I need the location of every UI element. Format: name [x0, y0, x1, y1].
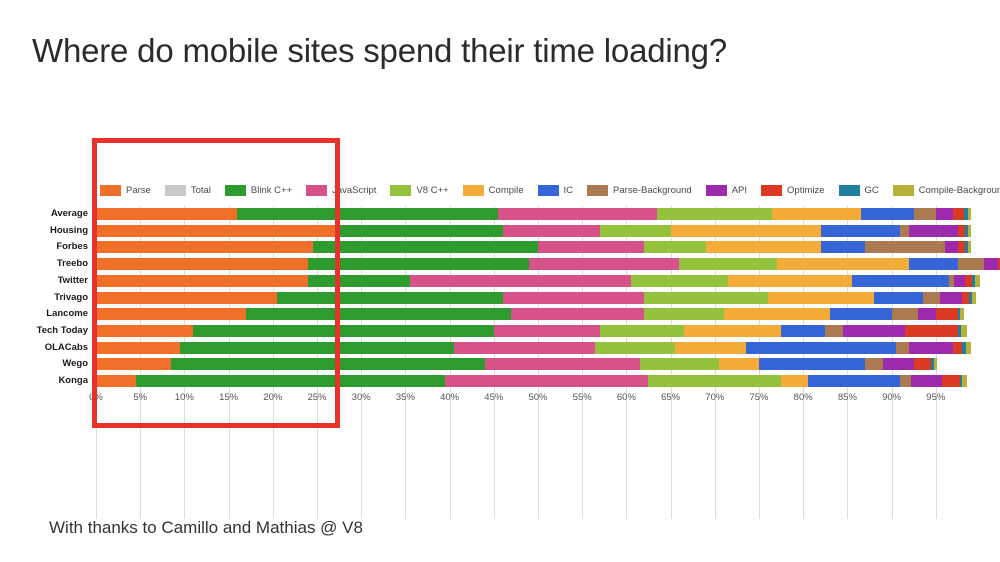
stacked-bar: [96, 308, 980, 320]
bar-row: [96, 342, 980, 354]
category-label-housing: Housing: [50, 225, 88, 237]
bar-segment-compile[interactable]: [684, 325, 781, 337]
category-label-treebo: Treebo: [57, 258, 88, 270]
legend-label: API: [732, 185, 747, 196]
legend-swatch-icon: [225, 185, 246, 196]
bar-segment-compile-background[interactable]: [962, 375, 966, 387]
legend-item-gc[interactable]: GC: [839, 185, 879, 196]
bar-segment-parse[interactable]: [96, 225, 335, 237]
legend-item-compile[interactable]: Compile: [463, 185, 524, 196]
category-label-trivago: Trivago: [54, 292, 88, 304]
legend-swatch-icon: [463, 185, 484, 196]
bar-segment-parse-background[interactable]: [914, 208, 936, 220]
legend-label: Parse: [126, 185, 151, 196]
bar-row: [96, 258, 980, 270]
stacked-bar-chart: ParseTotalBlink C++JavaScriptV8 C++Compi…: [0, 130, 1000, 420]
x-tick-label: 75%: [749, 392, 768, 403]
stacked-bar: [96, 292, 980, 304]
bar-segment-blink-c-[interactable]: [246, 308, 511, 320]
bar-segment-parse-background[interactable]: [900, 225, 909, 237]
x-tick-label: 0%: [89, 392, 103, 403]
legend-swatch-icon: [306, 185, 327, 196]
bar-segment-parse[interactable]: [96, 325, 193, 337]
bar-segment-javascript[interactable]: [503, 292, 644, 304]
stacked-bar: [96, 208, 980, 220]
bar-segment-v8-c-[interactable]: [640, 358, 720, 370]
legend-swatch-icon: [839, 185, 860, 196]
legend-swatch-icon: [706, 185, 727, 196]
stacked-bar: [96, 342, 980, 354]
bar-segment-javascript[interactable]: [410, 275, 631, 287]
bar-segment-api[interactable]: [909, 342, 953, 354]
x-tick-label: 10%: [175, 392, 194, 403]
bar-segment-v8-c-[interactable]: [644, 292, 768, 304]
category-label-tech-today: Tech Today: [37, 325, 88, 337]
bar-segment-parse[interactable]: [96, 375, 136, 387]
bar-segment-v8-c-[interactable]: [595, 342, 675, 354]
x-tick-label: 45%: [484, 392, 503, 403]
bar-segment-optimize[interactable]: [936, 308, 958, 320]
stacked-bar: [96, 358, 980, 370]
legend-item-api[interactable]: API: [706, 185, 747, 196]
bar-segment-compile-background[interactable]: [972, 292, 976, 304]
bar-segment-blink-c-[interactable]: [193, 325, 494, 337]
stacked-bar: [96, 275, 980, 287]
bar-segment-api[interactable]: [883, 358, 914, 370]
bar-segment-api[interactable]: [918, 308, 936, 320]
bar-segment-api[interactable]: [954, 275, 965, 287]
bar-segment-ic[interactable]: [808, 375, 901, 387]
legend-swatch-icon: [893, 185, 914, 196]
stacked-bar: [96, 258, 980, 270]
bar-segment-api[interactable]: [984, 258, 997, 270]
bar-segment-ic[interactable]: [746, 342, 896, 354]
stacked-bar: [96, 325, 980, 337]
plot-region: [96, 206, 980, 518]
legend-label: Compile: [489, 185, 524, 196]
bar-row: [96, 208, 980, 220]
bar-segment-blink-c-[interactable]: [313, 241, 538, 253]
bar-row: [96, 275, 980, 287]
bar-segment-v8-c-[interactable]: [648, 375, 781, 387]
legend-swatch-icon: [587, 185, 608, 196]
legend-swatch-icon: [165, 185, 186, 196]
bar-segment-blink-c-[interactable]: [308, 258, 529, 270]
x-tick-label: 60%: [617, 392, 636, 403]
bar-segment-blink-c-[interactable]: [335, 225, 503, 237]
bar-segment-parse[interactable]: [96, 241, 313, 253]
bar-segment-parse[interactable]: [96, 208, 237, 220]
legend-item-total[interactable]: Total: [165, 185, 211, 196]
x-tick-label: 55%: [573, 392, 592, 403]
bar-segment-compile[interactable]: [781, 375, 808, 387]
bar-segment-ic[interactable]: [852, 275, 949, 287]
bar-segment-parse-background[interactable]: [865, 358, 883, 370]
bar-segment-javascript[interactable]: [498, 208, 657, 220]
legend-swatch-icon: [761, 185, 782, 196]
bar-segment-blink-c-[interactable]: [136, 375, 445, 387]
legend-label: Compile-Background: [919, 185, 1000, 196]
legend-item-v8-c-[interactable]: V8 C++: [390, 185, 448, 196]
bar-segment-compile-background[interactable]: [968, 225, 972, 237]
category-label-twitter: Twitter: [58, 275, 88, 287]
bar-segment-parse-background[interactable]: [958, 258, 985, 270]
bar-segment-optimize[interactable]: [953, 342, 962, 354]
bar-segment-api[interactable]: [909, 225, 958, 237]
x-tick-label: 90%: [882, 392, 901, 403]
bar-segment-ic[interactable]: [821, 241, 865, 253]
bar-segment-v8-c-[interactable]: [644, 241, 706, 253]
bar-segment-api[interactable]: [936, 208, 954, 220]
bar-segment-v8-c-[interactable]: [600, 225, 671, 237]
x-tick-label: 85%: [838, 392, 857, 403]
bar-segment-optimize[interactable]: [958, 225, 965, 237]
stacked-bar: [96, 241, 980, 253]
bar-segment-blink-c-[interactable]: [180, 342, 454, 354]
bar-segment-javascript[interactable]: [494, 325, 600, 337]
bar-segment-compile[interactable]: [777, 258, 910, 270]
bar-segment-ic[interactable]: [861, 208, 914, 220]
legend-item-parse[interactable]: Parse: [100, 185, 151, 196]
bar-segment-optimize[interactable]: [958, 241, 965, 253]
bar-segment-ic[interactable]: [821, 225, 901, 237]
x-tick-label: 40%: [440, 392, 459, 403]
bar-segment-compile-background[interactable]: [966, 342, 971, 354]
legend-item-optimize[interactable]: Optimize: [761, 185, 824, 196]
bar-segment-api[interactable]: [940, 292, 962, 304]
x-tick-label: 50%: [528, 392, 547, 403]
bar-segment-compile[interactable]: [768, 292, 874, 304]
legend-label: JavaScript: [332, 185, 376, 196]
bar-segment-v8-c-[interactable]: [657, 208, 772, 220]
bar-segment-optimize[interactable]: [942, 375, 960, 387]
bar-segment-compile[interactable]: [671, 225, 821, 237]
bar-segment-ic[interactable]: [781, 325, 825, 337]
legend-swatch-icon: [100, 185, 121, 196]
legend-swatch-icon: [390, 185, 411, 196]
bar-segment-parse-background[interactable]: [892, 308, 919, 320]
bar-segment-parse-background[interactable]: [923, 292, 941, 304]
bar-segment-ic[interactable]: [909, 258, 958, 270]
stacked-bar: [96, 225, 980, 237]
category-label-forbes: Forbes: [56, 241, 88, 253]
bar-segment-parse[interactable]: [96, 292, 277, 304]
bar-segment-javascript[interactable]: [503, 225, 600, 237]
x-tick-label: 20%: [263, 392, 282, 403]
bar-segment-javascript[interactable]: [538, 241, 644, 253]
bar-segment-parse[interactable]: [96, 342, 180, 354]
bar-row: [96, 241, 980, 253]
bar-segment-blink-c-[interactable]: [237, 208, 498, 220]
bar-segment-compile-background[interactable]: [968, 241, 972, 253]
stacked-bar: [96, 375, 980, 387]
bar-segment-javascript[interactable]: [529, 258, 679, 270]
x-tick-label: 5%: [133, 392, 147, 403]
x-tick-label: 25%: [307, 392, 326, 403]
legend-label: Total: [191, 185, 211, 196]
bar-segment-ic[interactable]: [759, 358, 865, 370]
x-tick-label: 35%: [396, 392, 415, 403]
bar-segment-compile-background[interactable]: [968, 208, 972, 220]
bar-segment-api[interactable]: [843, 325, 905, 337]
bar-segment-v8-c-[interactable]: [600, 325, 684, 337]
x-axis-tick-labels: 0%5%10%15%20%25%30%35%40%45%50%55%60%65%…: [96, 392, 980, 408]
bar-segment-parse-background[interactable]: [900, 375, 911, 387]
category-label-lancome: Lancome: [46, 308, 88, 320]
bar-segment-compile-background[interactable]: [934, 358, 938, 370]
bar-segment-optimize[interactable]: [965, 275, 972, 287]
bar-segment-v8-c-[interactable]: [644, 308, 724, 320]
category-label-average: Average: [51, 208, 88, 220]
bar-segment-ic[interactable]: [874, 292, 923, 304]
page-title: Where do mobile sites spend their time l…: [32, 32, 727, 70]
category-axis-labels: AverageHousingForbesTreeboTwitterTrivago…: [0, 206, 96, 406]
x-tick-label: 30%: [352, 392, 371, 403]
bar-segment-compile[interactable]: [724, 308, 830, 320]
bar-segment-optimize[interactable]: [953, 208, 964, 220]
bar-row: [96, 375, 980, 387]
bar-segment-javascript[interactable]: [445, 375, 648, 387]
bar-segment-compile-background[interactable]: [975, 275, 980, 287]
bar-segment-blink-c-[interactable]: [308, 275, 410, 287]
legend-item-parse-background[interactable]: Parse-Background: [587, 185, 692, 196]
bar-segment-optimize[interactable]: [914, 358, 932, 370]
bar-segment-javascript[interactable]: [511, 308, 644, 320]
legend-item-javascript[interactable]: JavaScript: [306, 185, 376, 196]
bar-segment-compile-background[interactable]: [960, 308, 964, 320]
x-tick-label: 65%: [661, 392, 680, 403]
bar-segment-blink-c-[interactable]: [277, 292, 502, 304]
footer-credit: With thanks to Camillo and Mathias @ V8: [49, 518, 363, 538]
bar-row: [96, 225, 980, 237]
category-label-wego: Wego: [62, 358, 88, 370]
x-tick-label: 80%: [794, 392, 813, 403]
bar-row: [96, 325, 980, 337]
bar-segment-parse-background[interactable]: [825, 325, 843, 337]
legend-label: IC: [564, 185, 574, 196]
bar-segment-v8-c-[interactable]: [679, 258, 776, 270]
bar-row: [96, 292, 980, 304]
x-tick-label: 15%: [219, 392, 238, 403]
bar-segment-parse-background[interactable]: [865, 241, 945, 253]
bar-segment-parse[interactable]: [96, 308, 246, 320]
bar-segment-parse[interactable]: [96, 358, 171, 370]
bar-segment-compile[interactable]: [706, 241, 821, 253]
bar-segment-ic[interactable]: [830, 308, 892, 320]
bar-segment-compile[interactable]: [719, 358, 759, 370]
legend-label: Parse-Background: [613, 185, 692, 196]
bar-segment-blink-c-[interactable]: [171, 358, 485, 370]
legend-item-ic[interactable]: IC: [538, 185, 574, 196]
bar-segment-compile[interactable]: [728, 275, 852, 287]
legend-label: Blink C++: [251, 185, 292, 196]
bar-segment-compile[interactable]: [675, 342, 746, 354]
bar-segment-compile-background[interactable]: [961, 325, 966, 337]
x-tick-label: 95%: [926, 392, 945, 403]
bar-segment-compile[interactable]: [772, 208, 860, 220]
legend-swatch-icon: [538, 185, 559, 196]
legend-label: GC: [865, 185, 879, 196]
bar-segment-parse[interactable]: [96, 258, 308, 270]
chart-legend: ParseTotalBlink C++JavaScriptV8 C++Compi…: [100, 182, 1000, 198]
bar-segment-optimize[interactable]: [905, 325, 958, 337]
bar-segment-api[interactable]: [911, 375, 942, 387]
category-label-olacabs: OLACabs: [45, 342, 88, 354]
bar-segment-parse-background[interactable]: [896, 342, 909, 354]
bar-segment-v8-c-[interactable]: [631, 275, 728, 287]
bar-row: [96, 308, 980, 320]
x-tick-label: 70%: [705, 392, 724, 403]
bar-segment-api[interactable]: [945, 241, 958, 253]
legend-item-blink-c-[interactable]: Blink C++: [225, 185, 292, 196]
bar-segment-javascript[interactable]: [485, 358, 640, 370]
bar-segment-javascript[interactable]: [454, 342, 595, 354]
bar-segment-parse[interactable]: [96, 275, 308, 287]
bar-row: [96, 358, 980, 370]
legend-label: Optimize: [787, 185, 824, 196]
legend-label: V8 C++: [416, 185, 448, 196]
bar-segment-optimize[interactable]: [962, 292, 969, 304]
category-label-konga: Konga: [58, 375, 88, 387]
legend-item-compile-background[interactable]: Compile-Background: [893, 185, 1000, 196]
